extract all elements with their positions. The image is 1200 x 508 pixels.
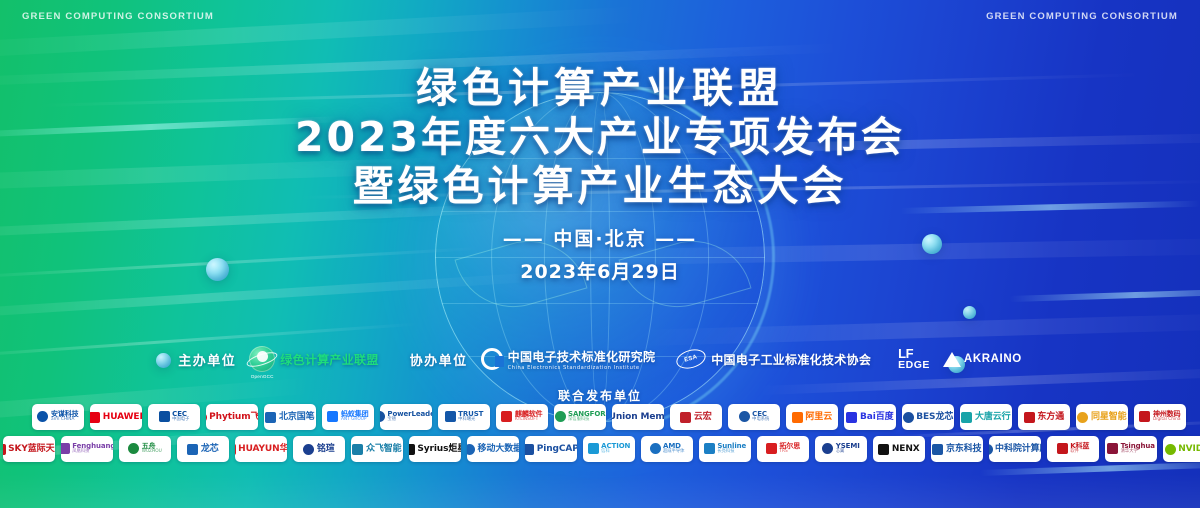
partner-logo-name: 麒麟软件KYLINSOFT (515, 411, 543, 422)
partner-logo-name: SANGFOR深信服科技 (568, 411, 606, 422)
partner-logo-mark-icon (235, 444, 236, 455)
partner-logo-name: Bai百度 (860, 413, 894, 422)
partner-logo-chip[interactable]: AMD超威半导体 (641, 436, 693, 462)
partner-logo-row: 安谋科技arm CHINAHUAWEICEC中国电子Phytium飞腾北京国笔蚂… (46, 404, 1172, 430)
partner-logo-name: 拓尔思TRS (779, 443, 800, 454)
partner-logo-name: TRUST中科曙光 (458, 411, 483, 422)
partner-logo-name: 京东科技 (946, 445, 982, 454)
esa-logo-icon: ESA (674, 346, 708, 372)
partner-logo-chip[interactable]: 云宏 (670, 404, 722, 430)
partner-logo-mark-icon (380, 411, 385, 422)
partner-logo-name: Sunline长亮科技 (717, 443, 746, 454)
partner-logo-mark-icon (467, 444, 475, 455)
partner-logo-mark-icon (3, 444, 6, 455)
coorg-cesi-en: China Electronics Standardization Instit… (508, 365, 656, 371)
host-org-name: 绿色计算产业联盟 (280, 351, 378, 368)
partner-logo-name: 众飞智能 (366, 445, 402, 454)
partner-logo-chip[interactable]: SANGFOR深信服科技 (554, 404, 606, 430)
partner-logo-subname: 宝德 (387, 418, 432, 422)
partner-logo-name: 神州数码Digital China (1153, 411, 1181, 422)
partner-logo-name: K科蓝软件 (1070, 443, 1089, 454)
opengcc-logo-icon: OpenGCC (249, 346, 275, 372)
opengcc-mark-text: OpenGCC (249, 374, 275, 379)
partner-logo-name: NVIDIA (1178, 445, 1200, 454)
partner-logo-mark-icon (327, 411, 338, 422)
partner-logo-chip[interactable]: 铭瑄 (293, 436, 345, 462)
cesi-logo-icon (481, 348, 503, 370)
partner-logo-name: 阿里云 (805, 413, 832, 422)
partner-logo-mark-icon (739, 411, 750, 422)
partner-logo-chip[interactable]: YSEMI芯翼 (815, 436, 867, 462)
partner-logo-row: Cover云人工智能SKY蓝际天启Fenghuang凤凰科技五舟WUZHOU龙芯… (46, 436, 1172, 462)
partner-logo-chip[interactable]: NVIDIA (1163, 436, 1200, 462)
partner-logo-name: Fenghuang凤凰科技 (72, 443, 113, 454)
partner-logo-name: SKY蓝际天启 (8, 445, 55, 454)
partner-logo-name: 北京国笔 (279, 413, 315, 422)
partner-logo-name: HUAYUN华云 (238, 445, 287, 454)
partner-logo-chip[interactable]: Union Memory (612, 404, 664, 430)
partner-logo-subname: 中科曙光 (458, 418, 483, 422)
partner-logo-subname: TRS (779, 450, 800, 454)
partner-logo-chip[interactable]: SKY蓝际天启 (3, 436, 55, 462)
partner-logo-chip[interactable]: 众飞智能 (351, 436, 403, 462)
akraino-logo: AKRAINO (943, 352, 1022, 367)
host-org: OpenGCC 绿色计算产业联盟 (249, 346, 378, 372)
partner-logo-name: 云宏 (694, 413, 712, 422)
host-label: 主办单位 (178, 350, 236, 369)
partner-logo-chip[interactable]: Tsinghua清华大学 (1105, 436, 1157, 462)
partner-logo-chip[interactable]: 京东科技 (931, 436, 983, 462)
partner-logo-name: 铭瑄 (317, 445, 335, 454)
partner-logo-name: 蚂蚁集团ANT GROUP (341, 411, 369, 422)
partner-logo-chip[interactable]: 东方通 (1018, 404, 1070, 430)
event-date: 2023年6月29日 (0, 257, 1200, 284)
partner-logo-name: 安谋科技arm CHINA (51, 411, 79, 422)
partner-logo-chip[interactable]: 同星智能 (1076, 404, 1128, 430)
partner-logo-mark-icon (37, 411, 48, 422)
coorg-cesi: 中国电子技术标准化研究院 China Electronics Standardi… (481, 348, 656, 371)
coorg-cesi-name: 中国电子技术标准化研究院 China Electronics Standardi… (508, 348, 656, 371)
bubble-decoration (963, 306, 976, 319)
partner-logo-chip[interactable]: CEC中国电子 (148, 404, 200, 430)
partner-logo-name: 移动大数据 (478, 445, 520, 454)
partner-logo-subname: KYLINSOFT (515, 418, 543, 422)
partner-logo-chip[interactable]: 安谋科技arm CHINA (32, 404, 84, 430)
partner-logo-name: YSEMI芯翼 (836, 443, 860, 454)
partner-logo-name: 五舟WUZHOU (142, 443, 162, 454)
partner-logo-subname: 中电系统 (752, 418, 769, 422)
partner-logo-mark-icon (501, 411, 512, 422)
partner-logo-subname: 软件 (1070, 450, 1089, 454)
partner-logo-chip[interactable]: ACTION信科 (583, 436, 635, 462)
partner-logo-mark-icon (932, 444, 943, 455)
partner-logo-name: CEC中国电子 (172, 411, 189, 422)
partner-logo-chip[interactable]: 拓尔思TRS (757, 436, 809, 462)
partner-logo-name: ACTION信科 (601, 443, 630, 454)
partner-logo-name: Tsinghua清华大学 (1121, 443, 1155, 454)
partner-logo-mark-icon (525, 444, 534, 455)
partner-logo-name: 东方通 (1037, 413, 1064, 422)
partner-logo-name: PingCAP (537, 445, 577, 454)
partner-logo-chip[interactable]: NENX (873, 436, 925, 462)
coorg-esa: ESA 中国电子工业标准化技术协会 (676, 350, 871, 368)
partner-logo-subname: WUZHOU (142, 450, 162, 454)
partner-logo-chip[interactable]: PingCAP (525, 436, 577, 462)
partner-logo-name: 同星智能 (1091, 413, 1127, 422)
akraino-triangle-icon (943, 352, 961, 367)
partner-logo-subname: 深信服科技 (568, 418, 606, 422)
lf-edge-logo-icon: LF EDGE (898, 347, 930, 371)
partner-logo-mark-icon (822, 443, 833, 454)
partner-logo-mark-icon (445, 411, 456, 422)
partner-logo-name: Syrius炬星 (417, 445, 461, 454)
coorg-esa-name: 中国电子工业标准化技术协会 (711, 351, 871, 368)
partner-logo-subname: Digital China (1153, 418, 1181, 422)
event-banner: GREEN COMPUTING CONSORTIUM GREEN COMPUTI… (0, 0, 1200, 508)
partner-logo-mark-icon (878, 444, 889, 455)
event-location: —— 中国·北京 —— (0, 224, 1200, 251)
partner-logo-mark-icon (159, 411, 170, 422)
partner-logo-chip[interactable]: 北京国笔 (264, 404, 316, 430)
partner-logo-chip[interactable]: PowerLeader宝德 (380, 404, 432, 430)
title-line-2: 2023年度六大产业专项发布会 (0, 115, 1200, 161)
lf-edge-bottom-text: EDGE (898, 360, 930, 371)
partner-logo-chip[interactable]: 神州数码Digital China (1134, 404, 1186, 430)
partner-logo-name: 龙芯 (201, 445, 219, 454)
partner-logo-mark-icon (903, 412, 914, 423)
partner-logo-subname: 信科 (601, 450, 630, 454)
title-line-3: 暨绿色计算产业生态大会 (0, 164, 1200, 210)
partner-logo-chip[interactable]: Sunline长亮科技 (699, 436, 751, 462)
partner-logo-chip[interactable]: Syrius炬星 (409, 436, 461, 462)
partner-logo-mark-icon (989, 444, 993, 455)
partner-logo-name: AMD超威半导体 (663, 443, 684, 454)
partner-logo-chip[interactable]: BES龙芯 (902, 404, 954, 430)
partner-logo-chip[interactable]: K科蓝软件 (1047, 436, 1099, 462)
partner-logo-mark-icon (961, 412, 972, 423)
partner-logo-mark-icon (650, 443, 661, 454)
title-block: 绿色计算产业联盟 2023年度六大产业专项发布会 暨绿色计算产业生态大会 —— … (0, 66, 1200, 284)
partner-logo-name: Phytium飞腾 (209, 413, 258, 422)
partner-logo-mark-icon (1057, 443, 1068, 454)
partner-logo-name: NENX (892, 445, 920, 454)
partner-logo-chip[interactable]: CEC中电系统 (728, 404, 780, 430)
akraino-name: AKRAINO (964, 353, 1022, 365)
corner-wordmark-left: GREEN COMPUTING CONSORTIUM (22, 11, 214, 22)
partner-logo-mark-icon (680, 412, 691, 423)
partner-logo-chip[interactable]: HUAYUN华云 (235, 436, 287, 462)
partner-logo-subname: 中国电子 (172, 418, 189, 422)
partner-logo-name: Union Memory (612, 413, 664, 422)
partner-logo-chip[interactable]: 麒麟软件KYLINSOFT (496, 404, 548, 430)
partner-logo-mark-icon (588, 443, 599, 454)
partner-logo-mark-icon (555, 411, 566, 422)
partner-logo-mark-icon (303, 444, 314, 455)
partner-logo-chip[interactable]: 五舟WUZHOU (119, 436, 171, 462)
partner-logo-chip[interactable]: TRUST中科曙光 (438, 404, 490, 430)
partner-logo-mark-icon (1165, 444, 1176, 455)
partner-logo-subname: 超威半导体 (663, 450, 684, 454)
partner-logo-mark-icon (409, 444, 415, 455)
partner-logo-grid: 安谋科技arm CHINAHUAWEICEC中国电子Phytium飞腾北京国笔蚂… (46, 404, 1172, 468)
partner-logo-mark-icon (187, 444, 198, 455)
corner-wordmark-right: GREEN COMPUTING CONSORTIUM (986, 11, 1178, 22)
partner-logo-name: BES龙芯 (916, 413, 953, 422)
esa-mark-text: ESA (684, 354, 698, 363)
partner-logo-name: CEC中电系统 (752, 411, 769, 422)
partner-logo-chip[interactable]: Bai百度 (844, 404, 896, 430)
partner-logo-mark-icon (792, 412, 803, 423)
partner-logo-subname: 凤凰科技 (72, 450, 113, 454)
partner-logo-chip[interactable]: 中科院计算所 (989, 436, 1041, 462)
partner-logo-chip[interactable]: 移动大数据 (467, 436, 519, 462)
partner-logo-mark-icon (846, 412, 857, 423)
partner-logo-mark-icon (265, 412, 276, 423)
partner-logo-mark-icon (206, 412, 207, 423)
partner-logo-chip[interactable]: 大唐云行 (960, 404, 1012, 430)
partner-logo-subname: arm CHINA (51, 418, 79, 422)
title-line-1: 绿色计算产业联盟 (0, 66, 1200, 112)
partner-logo-chip[interactable]: Phytium飞腾 (206, 404, 258, 430)
coorg-cesi-cn: 中国电子技术标准化研究院 (508, 350, 656, 364)
partner-logo-name: 大唐云行 (975, 413, 1011, 422)
partner-logo-mark-icon (766, 443, 777, 454)
partner-logo-mark-icon (704, 443, 715, 454)
partner-logo-mark-icon (1077, 412, 1088, 423)
partner-logo-mark-icon (128, 443, 139, 454)
organizers-row: 主办单位 OpenGCC 绿色计算产业联盟 协办单位 中国电子技术标准化研究院 … (0, 345, 1200, 373)
partner-logo-chip[interactable]: 阿里云 (786, 404, 838, 430)
partner-logo-chip[interactable]: HUAWEI (90, 404, 142, 430)
partner-logo-name: 中科院计算所 (995, 445, 1041, 454)
partner-logo-subname: ANT GROUP (341, 418, 369, 422)
partner-logo-subname: 长亮科技 (717, 450, 746, 454)
partner-logo-chip[interactable]: Fenghuang凤凰科技 (61, 436, 113, 462)
partner-logo-mark-icon (61, 443, 70, 454)
partner-logo-mark-icon (352, 444, 363, 455)
partner-logo-name: PowerLeader宝德 (387, 411, 432, 422)
partner-logo-mark-icon (1107, 443, 1118, 454)
partner-logo-chip[interactable]: 蚂蚁集团ANT GROUP (322, 404, 374, 430)
partner-logo-subname: 清华大学 (1121, 450, 1155, 454)
partner-logo-name: HUAWEI (103, 413, 142, 422)
coorg-label: 协办单位 (410, 350, 468, 369)
partner-logo-mark-icon (1139, 411, 1150, 422)
partner-logo-subname: 芯翼 (836, 450, 860, 454)
joint-publishers-label: 联合发布单位 (0, 387, 1200, 404)
partner-logo-mark-icon (1024, 412, 1035, 423)
partner-logo-chip[interactable]: 龙芯 (177, 436, 229, 462)
partner-logo-mark-icon (90, 412, 100, 423)
